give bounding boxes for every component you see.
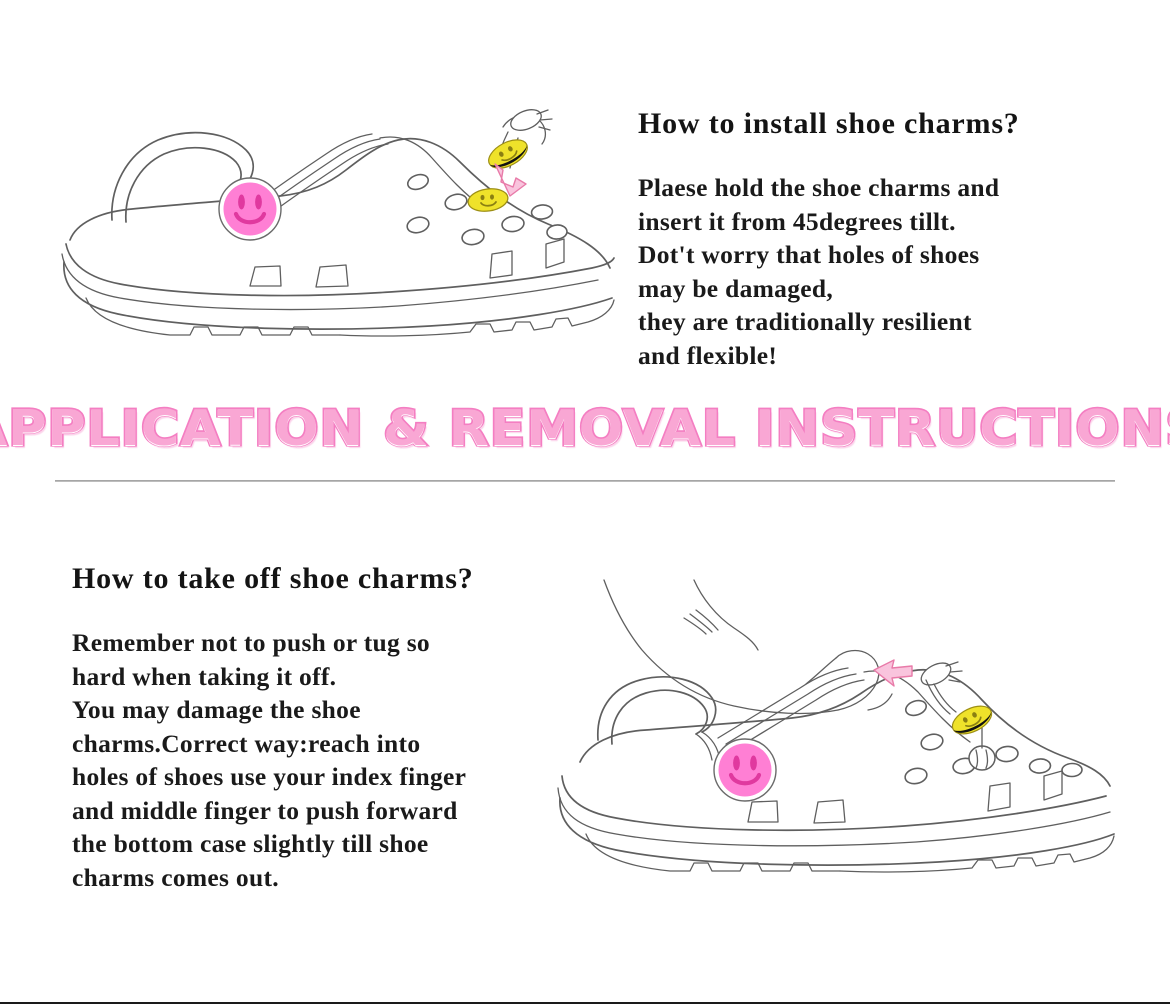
instruction-sheet: How to install shoe charms? Plaese hold … xyxy=(0,0,1170,1002)
removal-heading: How to take off shoe charms? xyxy=(72,562,572,596)
removal-line-2: hard when taking it off. xyxy=(72,660,572,694)
smiley-charm-attached xyxy=(714,739,776,801)
install-line-2: insert it from 45degrees tillt. xyxy=(638,205,1108,239)
smiley-charm-inserting xyxy=(484,134,532,174)
removal-body: Remember not to push or tug so hard when… xyxy=(72,626,572,894)
charm-post-in-hole xyxy=(969,728,995,770)
clog-shoe-removal-diagram xyxy=(520,580,1120,910)
banner-title: APPLICATION & REMOVAL INSTRUCTIONS xyxy=(0,398,1170,460)
banner: APPLICATION & REMOVAL INSTRUCTIONS xyxy=(0,398,1170,460)
smiley-charm-attached xyxy=(219,178,281,240)
install-body: Plaese hold the shoe charms and insert i… xyxy=(638,171,1108,372)
removal-line-3: You may damage the shoe xyxy=(72,693,572,727)
install-line-6: and flexible! xyxy=(638,339,1108,373)
removal-line-4: charms.Correct way:reach into xyxy=(72,727,572,761)
removal-line-8: charms comes out. xyxy=(72,861,572,895)
horizontal-divider xyxy=(55,480,1115,482)
install-line-4: may be damaged, xyxy=(638,272,1108,306)
install-line-5: they are traditionally resilient xyxy=(638,305,1108,339)
removal-line-1: Remember not to push or tug so xyxy=(72,626,572,660)
removal-instructions: How to take off shoe charms? Remember no… xyxy=(72,562,572,894)
install-heading: How to install shoe charms? xyxy=(638,107,1108,141)
smiley-charm-target-hole xyxy=(467,186,510,213)
install-line-3: Dot't worry that holes of shoes xyxy=(638,238,1108,272)
install-instructions: How to install shoe charms? Plaese hold … xyxy=(638,107,1108,372)
removal-line-7: the bottom case slightly till shoe xyxy=(72,827,572,861)
clog-shoe-install-diagram xyxy=(40,92,630,352)
install-line-1: Plaese hold the shoe charms and xyxy=(638,171,1108,205)
removal-line-5: holes of shoes use your index finger xyxy=(72,760,572,794)
removal-line-6: and middle finger to push forward xyxy=(72,794,572,828)
